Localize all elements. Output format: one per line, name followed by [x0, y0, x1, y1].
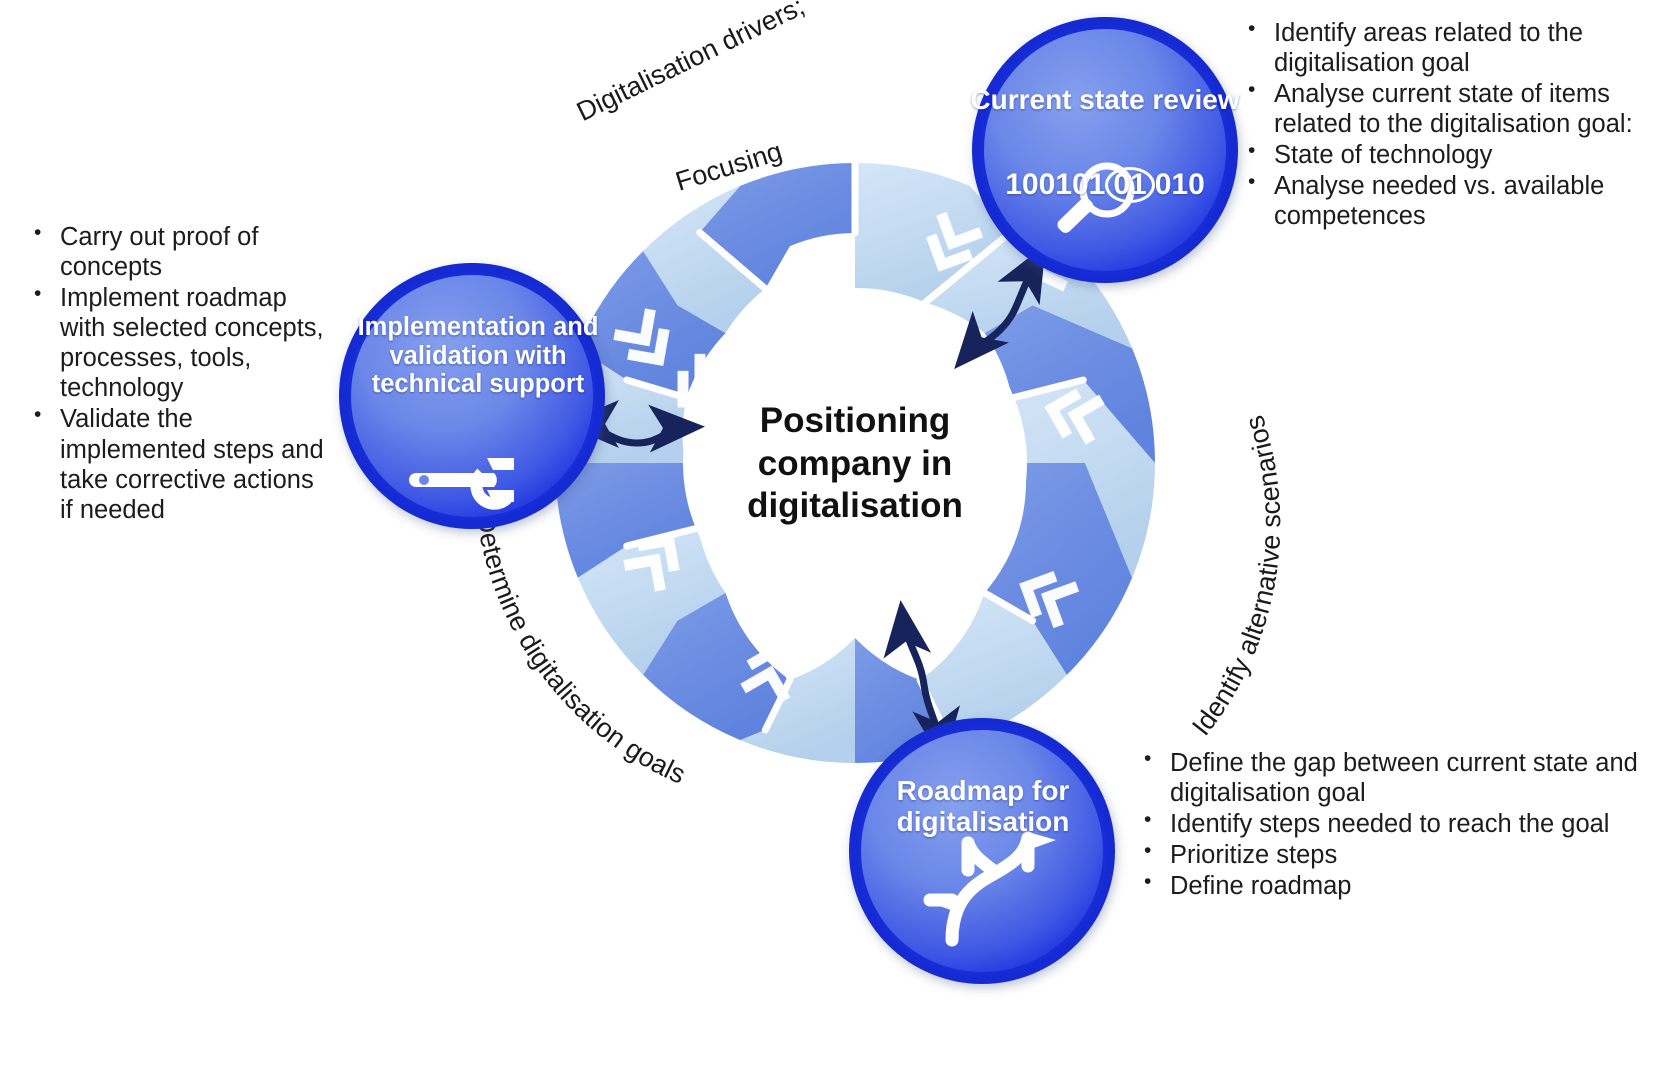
list-item: Identify steps needed to reach the goal	[1138, 809, 1638, 839]
list-item: Define the gap between current state and…	[1138, 748, 1638, 808]
list-item: Carry out proof of concepts	[28, 222, 326, 282]
bullet-list-current-state-review: Identify areas related to the digitalisa…	[1242, 18, 1642, 233]
bullet-list-roadmap-digitalisation: Define the gap between current state and…	[1138, 748, 1638, 902]
node-implementation-validation[interactable]	[339, 263, 605, 529]
list-item: Analyse needed vs. available competences	[1242, 171, 1642, 231]
node-current-state-review[interactable]	[972, 17, 1238, 283]
list-item: Implement roadmap with selected concepts…	[28, 283, 326, 403]
list-item: Validate the implemented steps and take …	[28, 404, 326, 524]
list-item: Define roadmap	[1138, 871, 1638, 901]
node-roadmap-digitalisation[interactable]	[849, 718, 1115, 984]
list-item: Analyse current state of items related t…	[1242, 79, 1642, 139]
list-item: Prioritize steps	[1138, 840, 1638, 870]
list-item: Identify areas related to the digitalisa…	[1242, 18, 1642, 78]
ring-inner-hole	[683, 291, 1027, 635]
diagram-canvas: Identify alternative scenarios Determine…	[0, 0, 1654, 1072]
list-item: State of technology	[1242, 140, 1642, 170]
bullet-list-implementation-validation: Carry out proof of concepts Implement ro…	[28, 222, 326, 526]
